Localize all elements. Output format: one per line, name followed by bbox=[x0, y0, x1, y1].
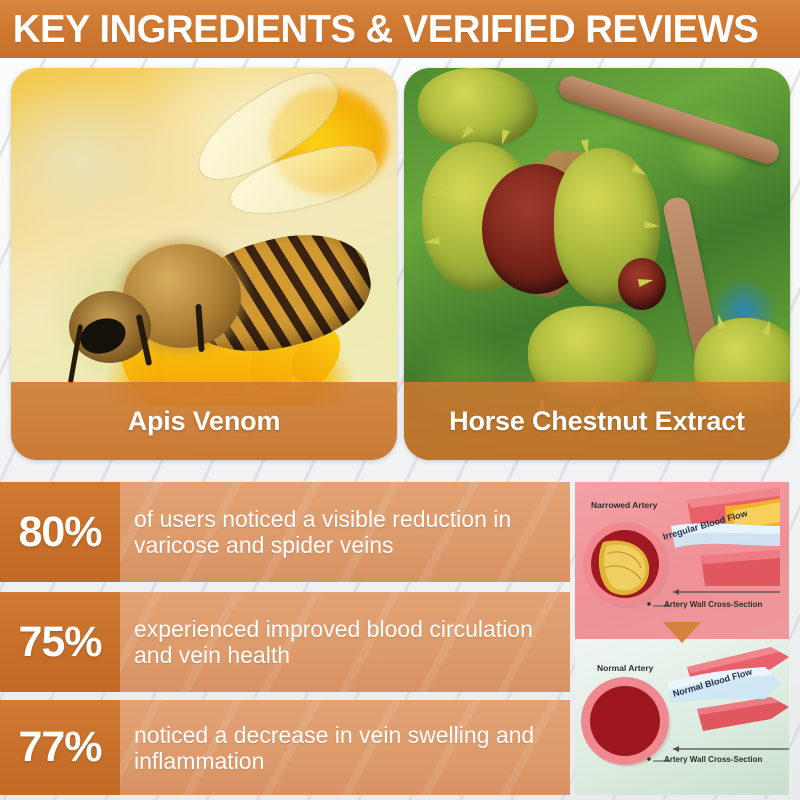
stat-row: 77% noticed a decrease in vein swelling … bbox=[0, 700, 570, 795]
stat-description-panel: experienced improved blood circulation a… bbox=[120, 592, 570, 692]
narrowed-artery-panel: Narrowed Artery Irregular Blood Flow Art… bbox=[575, 482, 789, 639]
ingredient-name: Horse Chestnut Extract bbox=[449, 407, 745, 436]
chestnut-husk bbox=[418, 68, 538, 148]
ingredient-card-apis-venom: Apis Venom bbox=[11, 68, 397, 460]
stat-description-panel: noticed a decrease in vein swelling and … bbox=[120, 700, 570, 795]
husk-spike bbox=[644, 221, 660, 231]
ingredient-card-horse-chestnut: Horse Chestnut Extract bbox=[404, 68, 790, 460]
stat-percent-badge: 77% bbox=[0, 700, 120, 795]
page-title: KEY INGREDIENTS & VERIFIED REVIEWS bbox=[0, 10, 758, 49]
stat-description-text: of users noticed a visible reduction in … bbox=[134, 506, 564, 558]
ingredient-caption-bar: Apis Venom bbox=[11, 382, 397, 460]
honeybee-photo: Apis Venom bbox=[11, 68, 397, 460]
normal-artery-label: Normal Artery bbox=[597, 663, 653, 673]
infographic-poster: KEY INGREDIENTS & VERIFIED REVIEWS Apis … bbox=[0, 0, 800, 800]
normal-artery-panel: Normal Artery Normal Blood Flow Artery W… bbox=[575, 639, 789, 795]
artery-comparison-diagram: Narrowed Artery Irregular Blood Flow Art… bbox=[575, 482, 789, 795]
husk-spike bbox=[424, 237, 440, 247]
stat-percent-badge: 75% bbox=[0, 592, 120, 692]
narrowed-artery-label: Narrowed Artery bbox=[591, 500, 657, 510]
artery-wall-cross-section-label: Artery Wall Cross-Section bbox=[664, 755, 762, 764]
ingredient-name: Apis Venom bbox=[128, 407, 281, 436]
artery-wall-cross-section-label: Artery Wall Cross-Section bbox=[664, 600, 762, 609]
stat-description-text: noticed a decrease in vein swelling and … bbox=[134, 722, 564, 774]
stat-description-panel: of users noticed a visible reduction in … bbox=[120, 482, 570, 582]
down-arrow-icon bbox=[663, 622, 701, 643]
stat-row: 80% of users noticed a visible reduction… bbox=[0, 482, 570, 582]
stat-description-text: experienced improved blood circulation a… bbox=[134, 616, 564, 668]
stat-percent-badge: 80% bbox=[0, 482, 120, 582]
horse-chestnut-photo: Horse Chestnut Extract bbox=[404, 68, 790, 460]
header-banner: KEY INGREDIENTS & VERIFIED REVIEWS bbox=[0, 0, 800, 58]
ingredient-caption-bar: Horse Chestnut Extract bbox=[404, 382, 790, 460]
stat-row: 75% experienced improved blood circulati… bbox=[0, 592, 570, 692]
